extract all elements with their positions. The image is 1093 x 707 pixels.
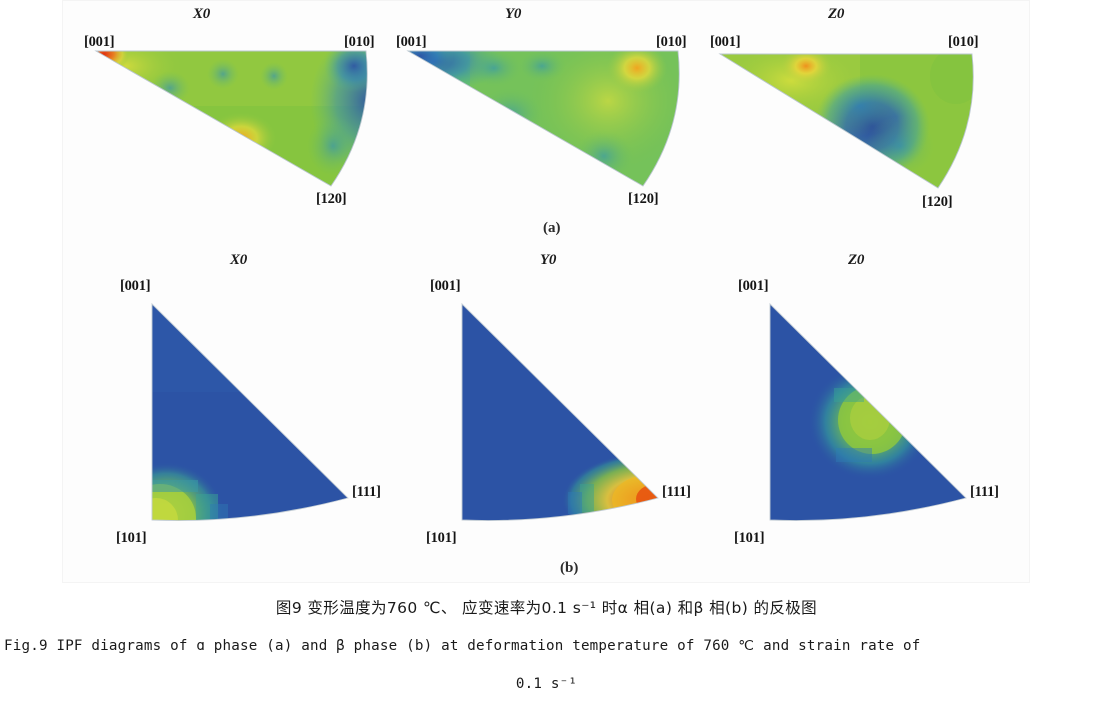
ipf-panel-a-x0: X0 [001] [010] [120] <box>78 6 378 221</box>
ipf-plot-b-y0 <box>420 252 720 552</box>
ipf-panel-b-y0: Y0 [001] [101] [111] <box>420 252 720 552</box>
ipf-plot-a-z0 <box>700 6 1010 221</box>
ipf-plot-b-x0 <box>110 252 410 552</box>
subpanel-label-a: (a) <box>543 220 561 237</box>
ipf-panel-a-y0: Y0 [001] [010] [120] <box>390 6 690 221</box>
caption-english-line2: 0.1 s⁻¹ <box>0 676 1093 692</box>
ipf-plot-a-y0 <box>390 6 690 221</box>
caption-english-line1: Fig.9 IPF diagrams of ɑ phase (a) and β … <box>4 638 1089 654</box>
ipf-panel-b-z0: Z0 [001] [101] [111] <box>730 252 1030 552</box>
subpanel-label-b: (b) <box>560 560 578 577</box>
ipf-panel-b-x0: X0 [001] [101] [111] <box>110 252 410 552</box>
ipf-panel-a-z0: Z0 [001] [010] [120] <box>700 6 1010 221</box>
ipf-plot-b-z0 <box>730 252 1030 552</box>
ipf-plot-a-x0 <box>78 6 378 221</box>
caption-chinese: 图9 变形温度为760 ℃、 应变速率为0.1 s⁻¹ 时α 相(a) 和β 相… <box>0 596 1093 618</box>
